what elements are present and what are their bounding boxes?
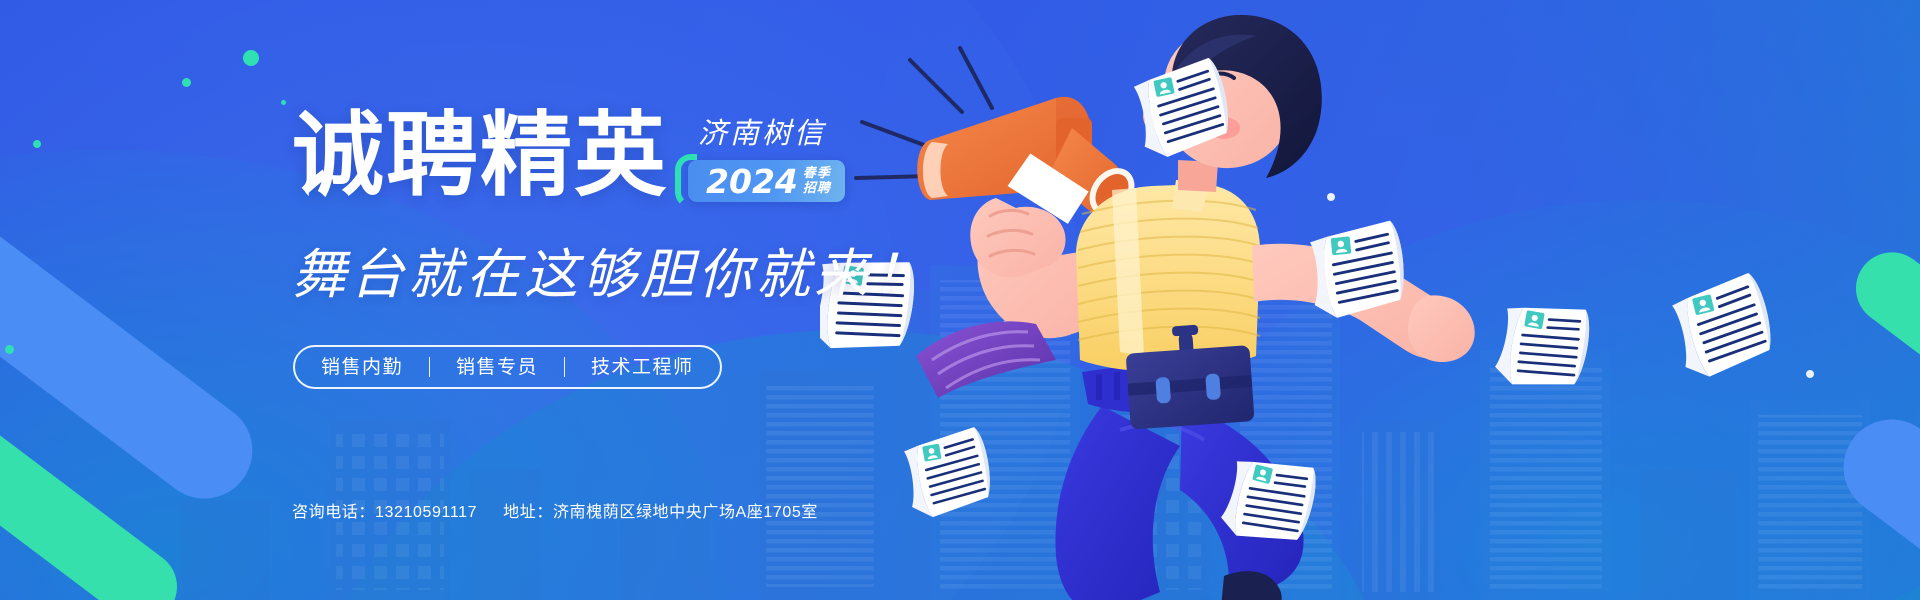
company-name: 济南树信 — [698, 120, 826, 149]
decor-dot-teal-4 — [281, 100, 286, 105]
person-illustration — [820, 0, 1620, 600]
address-label: 地址： — [503, 505, 553, 521]
subtitle: 舞台就在这够胆你就来！ — [292, 248, 930, 302]
shirt — [1076, 184, 1260, 372]
year-number: 2024 — [706, 165, 798, 198]
right-hand — [1408, 295, 1475, 362]
job-separator — [564, 357, 565, 377]
year-badge: 2024 春季 招聘 — [688, 160, 845, 202]
phone-value: 13210591117 — [375, 505, 477, 521]
decor-dot-teal-1 — [33, 140, 41, 148]
legs — [1055, 404, 1303, 600]
address-value: 济南槐荫区绿地中央广场A座1705室 — [553, 505, 818, 521]
badge-hook-accent — [675, 154, 697, 208]
season-line-1: 春季 — [803, 166, 831, 181]
season-label: 春季 招聘 — [803, 166, 831, 195]
phone-label: 咨询电话： — [292, 505, 375, 521]
head — [1143, 15, 1322, 178]
badge-column: 济南树信 2024 春季 招聘 — [688, 120, 845, 202]
decor-dot-teal-2 — [182, 78, 191, 87]
job-item-2[interactable]: 技术工程师 — [591, 358, 694, 377]
headline-row: 诚聘精英 济南树信 2024 春季 招聘 — [292, 110, 845, 202]
season-line-2: 招聘 — [803, 181, 831, 196]
page-title: 诚聘精英 — [292, 110, 668, 202]
job-item-1[interactable]: 销售专员 — [456, 358, 538, 377]
recruitment-banner: 诚聘精英 济南树信 2024 春季 招聘 舞台就在这够胆你就来！ 销售内勤 销售… — [0, 0, 1920, 600]
contact-info: 咨询电话： 13210591117 地址： 济南槐荫区绿地中央广场A座1705室 — [292, 505, 818, 521]
decor-dot-teal-3 — [243, 50, 259, 66]
job-separator — [429, 357, 430, 377]
job-item-0[interactable]: 销售内勤 — [321, 358, 403, 377]
job-positions-pill: 销售内勤 销售专员 技术工程师 — [293, 345, 722, 389]
